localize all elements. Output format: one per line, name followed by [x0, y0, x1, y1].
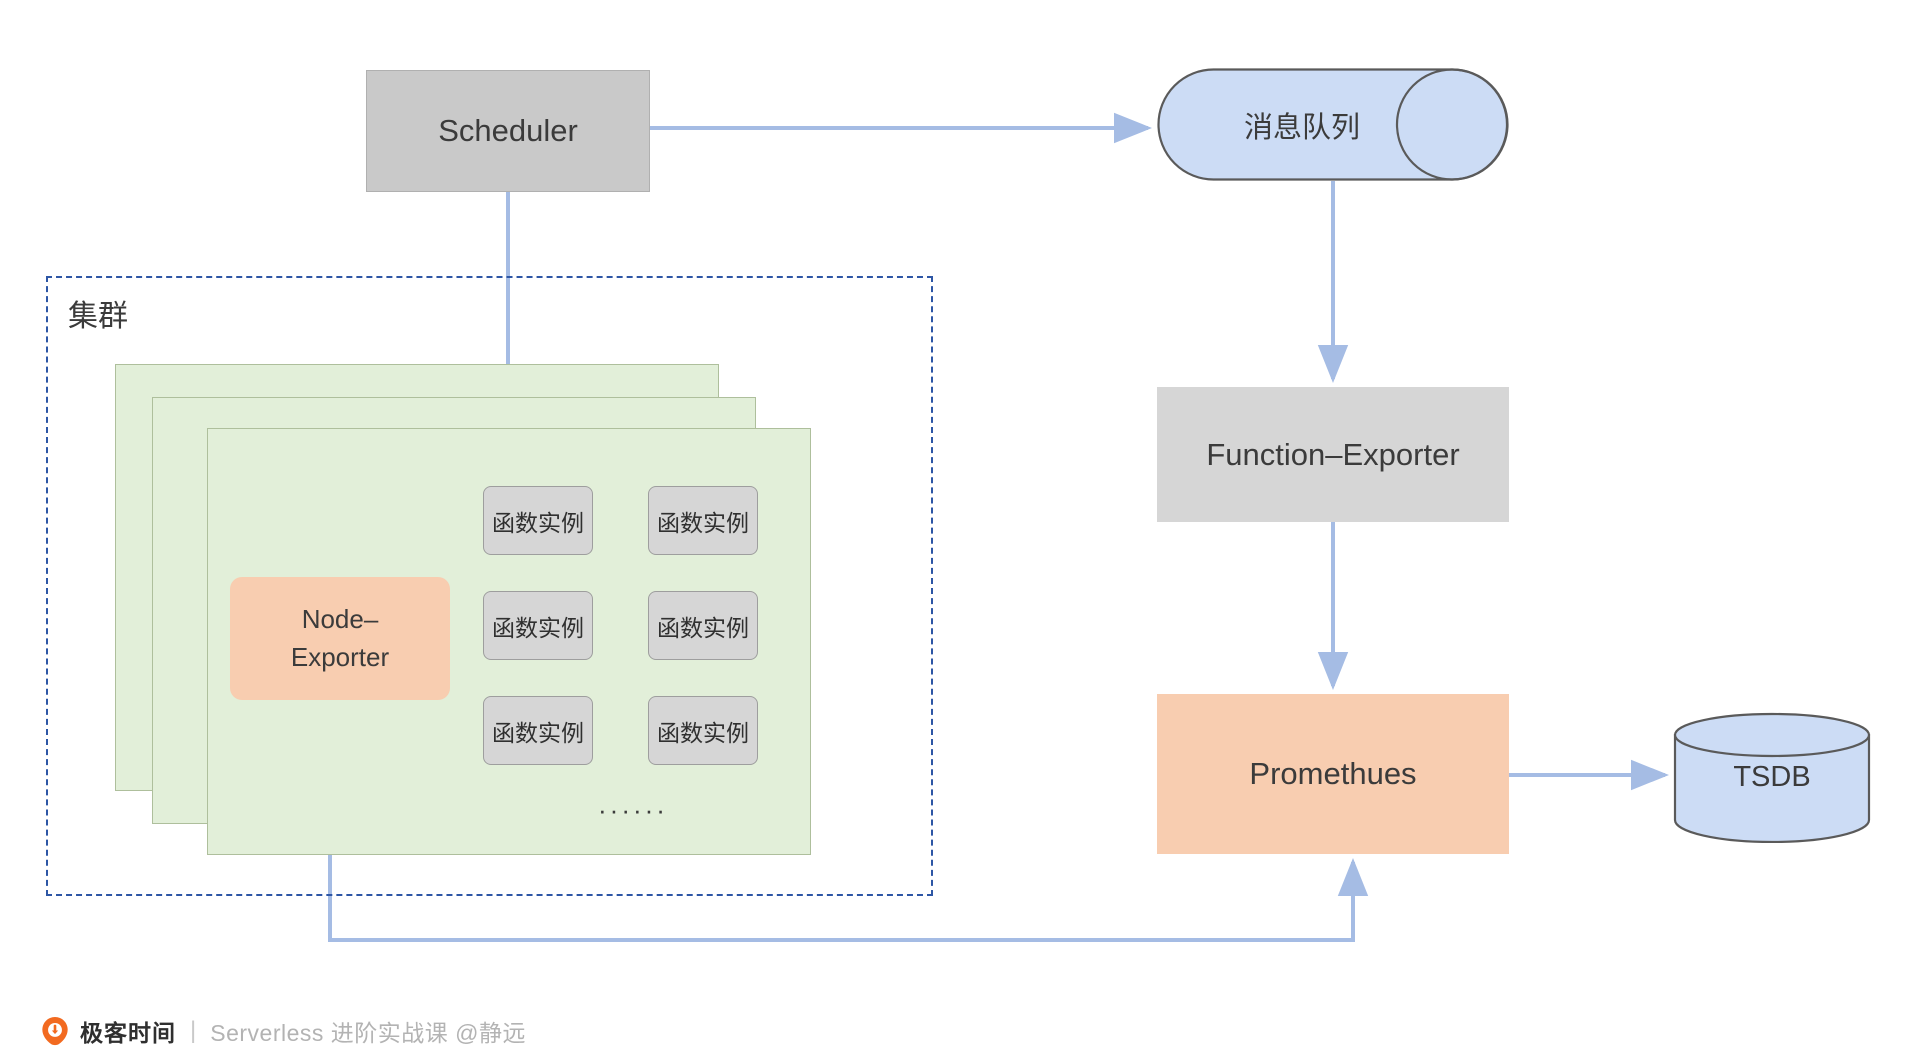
function-instance[interactable]: 函数实例 — [648, 591, 758, 660]
promethues-box[interactable]: Promethues — [1157, 694, 1509, 854]
function-exporter-label: Function–Exporter — [1206, 437, 1459, 473]
function-instance-label: 函数实例 — [492, 504, 584, 538]
function-instance-label: 函数实例 — [657, 714, 749, 748]
node-exporter-label-line2: Exporter — [291, 639, 389, 677]
function-instance[interactable]: 函数实例 — [648, 486, 758, 555]
scheduler-label: Scheduler — [438, 113, 578, 149]
diagram-canvas: 集群 Node– Exporter 函数实例 函数实例 函数实例 函数实例 函数… — [0, 0, 1920, 1064]
function-instance-label: 函数实例 — [657, 609, 749, 643]
message-queue-label: 消息队列 — [1157, 68, 1447, 181]
more-instances-indicator: ······ — [598, 795, 668, 826]
geekbang-logo-icon — [40, 1016, 70, 1046]
scheduler-box[interactable]: Scheduler — [366, 70, 650, 192]
function-exporter-box[interactable]: Function–Exporter — [1157, 387, 1509, 522]
function-instance-label: 函数实例 — [657, 504, 749, 538]
node-exporter-label-line1: Node– — [302, 601, 379, 639]
function-instance[interactable]: 函数实例 — [483, 486, 593, 555]
node-exporter-box[interactable]: Node– Exporter — [230, 577, 450, 700]
footer-brand-label: 极客时间 — [80, 1014, 176, 1048]
tsdb-label: TSDB — [1673, 712, 1871, 843]
function-instance[interactable]: 函数实例 — [483, 591, 593, 660]
message-queue-shape[interactable]: 消息队列 — [1157, 68, 1509, 181]
promethues-label: Promethues — [1249, 756, 1416, 792]
footer-watermark: 极客时间 | Serverless 进阶实战课 @静远 — [40, 1014, 526, 1048]
footer-course-label: Serverless 进阶实战课 @静远 — [210, 1014, 526, 1048]
tsdb-shape[interactable]: TSDB — [1673, 712, 1871, 843]
footer-divider: | — [190, 1017, 196, 1045]
function-instance-label: 函数实例 — [492, 609, 584, 643]
function-instance[interactable]: 函数实例 — [483, 696, 593, 765]
cluster-label: 集群 — [68, 291, 128, 335]
function-instance-label: 函数实例 — [492, 714, 584, 748]
function-instance[interactable]: 函数实例 — [648, 696, 758, 765]
